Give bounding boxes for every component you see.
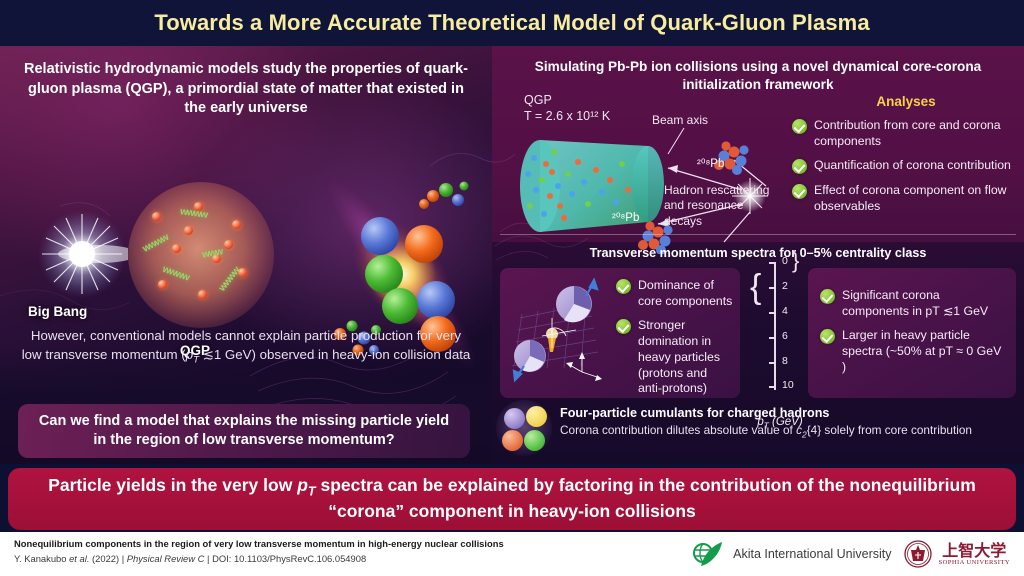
problem-statement: However, conventional models cannot expl… <box>20 326 472 368</box>
citation-year: (2022) | <box>92 553 124 564</box>
axis-tick-label: 6 <box>782 330 788 342</box>
left-brace: { <box>750 268 761 307</box>
akita-logo: Akita International University <box>692 540 891 568</box>
beam-axis-label: Beam axis <box>652 113 708 127</box>
axis-tick-label: 2 <box>782 280 788 292</box>
citation-journal: Physical Review C <box>127 553 205 564</box>
list-item: Contribution from core and corona compon… <box>792 118 1020 149</box>
logo-group: Akita International University 上智大学 SOPH… <box>692 538 1010 570</box>
spectra-right-bullets: Significant corona components in pT ≲1 G… <box>820 288 1006 385</box>
check-icon <box>616 319 631 334</box>
analyses-item-label: Contribution from core and corona compon… <box>814 118 1020 149</box>
big-bang-illustration <box>36 208 128 300</box>
axis-tick <box>769 362 776 364</box>
footer-bar: Nonequilibrium components in the region … <box>0 532 1024 576</box>
sophia-logo: 上智大学 SOPHIA UNIVERSITY <box>904 540 1010 568</box>
cumulants-subtitle: Corona contribution dilutes absolute val… <box>560 423 1020 440</box>
list-item: Larger in heavy particle spectra (~50% a… <box>820 328 1006 375</box>
paper-title: Nonequilibrium components in the region … <box>14 538 504 549</box>
analyses-item-label: Effect of corona component on flow obser… <box>814 183 1020 214</box>
hadron-rescattering-note: Hadron rescattering and resonance decays <box>664 183 784 229</box>
axis-tick-label: 10 <box>782 379 794 391</box>
check-icon <box>820 329 835 344</box>
akita-leaf-icon <box>692 540 726 568</box>
sophia-crest-icon <box>904 540 932 568</box>
check-icon <box>792 184 807 199</box>
pt-axis: 0 2 4 6 8 10 { } <box>752 252 810 412</box>
axis-tick <box>769 312 776 314</box>
analyses-list: Contribution from core and corona compon… <box>792 118 1020 224</box>
axis-tick <box>769 337 776 339</box>
spectra-right-card: Significant corona components in pT ≲1 G… <box>808 268 1016 398</box>
sophia-logo-en: SOPHIA UNIVERSITY <box>939 559 1010 566</box>
spectra-right-item-label: Larger in heavy particle spectra (~50% a… <box>842 328 1006 375</box>
akita-logo-label: Akita International University <box>733 547 891 561</box>
qgp-fireball: wwww wwww wwww wwww www <box>128 182 274 328</box>
right-brace: } <box>792 248 799 274</box>
conclusion-banner: Particle yields in the very low pT spect… <box>8 468 1016 530</box>
check-icon <box>616 279 631 294</box>
cumulants-block: Four-particle cumulants for charged hadr… <box>560 406 1020 440</box>
check-icon <box>792 119 807 134</box>
sophia-logo-jp: 上智大学 <box>942 543 1006 559</box>
simulation-heading: Simulating Pb-Pb ion collisions using a … <box>500 58 1016 93</box>
citation-etal: et al. <box>69 553 89 564</box>
four-particle-cluster-icon <box>496 400 552 456</box>
axis-tick-label: 4 <box>782 305 788 317</box>
nucleus-label-1: ²⁰⁸Pb <box>697 156 724 170</box>
check-icon <box>792 159 807 174</box>
paper-citation: Y. Kanakubo et al. (2022) | Physical Rev… <box>14 553 366 564</box>
spectra-left-bullets: Dominance of core components Stronger do… <box>616 278 734 406</box>
analyses-heading: Analyses <box>806 94 1006 109</box>
qgp-temp-line1: QGP <box>524 92 610 108</box>
section-divider <box>500 234 1016 235</box>
page-title: Towards a More Accurate Theoretical Mode… <box>154 10 869 36</box>
list-item: Quantification of corona contribution <box>792 158 1020 174</box>
axis-tick <box>769 386 776 388</box>
list-item: Effect of corona component on flow obser… <box>792 183 1020 214</box>
content-area: Relativistic hydrodynamic models study t… <box>0 46 1024 464</box>
list-item: Significant corona components in pT ≲1 G… <box>820 288 1006 319</box>
infographic-root: Towards a More Accurate Theoretical Mode… <box>0 0 1024 576</box>
big-bang-label: Big Bang <box>28 304 87 319</box>
list-item: Stronger domination in heavy particles (… <box>616 318 734 397</box>
sophia-logo-text: 上智大学 SOPHIA UNIVERSITY <box>939 543 1010 566</box>
spectra-left-item-label: Dominance of core components <box>638 278 734 309</box>
cumulants-title: Four-particle cumulants for charged hadr… <box>560 406 1020 420</box>
spectra-left-card: Dominance of core components Stronger do… <box>500 268 740 398</box>
citation-doi: | DOI: 10.1103/PhysRevC.106.054908 <box>207 553 366 564</box>
qgp-temp-line2: T = 2.6 x 10¹² K <box>524 108 610 124</box>
axis-tick-label: 0 <box>782 255 788 267</box>
check-icon <box>820 289 835 304</box>
core-corona-plot <box>504 274 608 386</box>
nucleus-label-2: ²⁰⁸Pb <box>612 210 639 224</box>
list-item: Dominance of core components <box>616 278 734 309</box>
analyses-item-label: Quantification of corona contribution <box>814 158 1011 174</box>
spectra-right-item-label: Significant corona components in pT ≲1 G… <box>842 288 1006 319</box>
research-question-text: Can we find a model that explains the mi… <box>34 412 454 450</box>
axis-tick <box>769 287 776 289</box>
conclusion-text: Particle yields in the very low pT spect… <box>30 475 994 522</box>
spectra-left-item-label: Stronger domination in heavy particles (… <box>638 318 734 397</box>
axis-line <box>774 262 776 390</box>
lead-statement: Relativistic hydrodynamic models study t… <box>18 60 474 119</box>
research-question-box: Can we find a model that explains the mi… <box>18 404 470 458</box>
axis-tick <box>769 262 776 264</box>
title-bar: Towards a More Accurate Theoretical Mode… <box>0 0 1024 46</box>
axis-tick-label: 8 <box>782 355 788 367</box>
citation-author: Y. Kanakubo <box>14 553 66 564</box>
qgp-temperature-label: QGP T = 2.6 x 10¹² K <box>524 92 610 125</box>
